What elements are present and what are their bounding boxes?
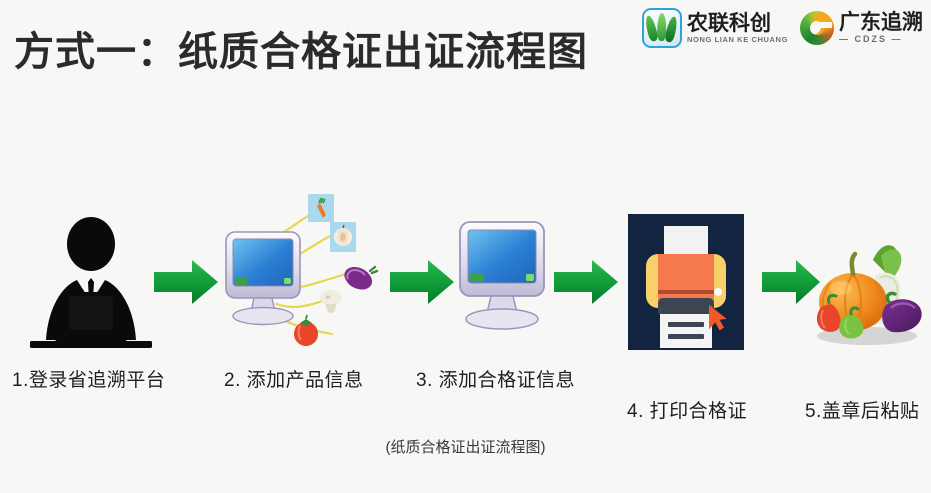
step-1-label: 1.登录省追溯平台 xyxy=(12,365,165,392)
vegetables-icon xyxy=(805,240,925,355)
monitor-with-produce-icon xyxy=(222,192,382,350)
arrow-2 xyxy=(388,258,456,311)
arrow-3 xyxy=(552,258,620,311)
person-at-laptop-icon xyxy=(22,216,160,348)
step-4-label: 4. 打印合格证 xyxy=(627,396,747,423)
step-3-label: 3. 添加合格证信息 xyxy=(416,365,575,392)
flow-diagram: 1.登录省追溯平台 xyxy=(0,0,931,493)
monitor-icon xyxy=(448,218,552,346)
arrow-1 xyxy=(152,258,220,311)
diagram-caption: (纸质合格证出证流程图) xyxy=(0,436,931,457)
step-5-label: 5.盖章后粘贴 xyxy=(805,396,919,423)
printer-icon xyxy=(628,214,744,350)
step-2-label: 2. 添加产品信息 xyxy=(224,365,364,392)
slide-root: 方式一：纸质合格证出证流程图 农联科创 NONG LIAN KE CHUANG … xyxy=(0,0,931,493)
